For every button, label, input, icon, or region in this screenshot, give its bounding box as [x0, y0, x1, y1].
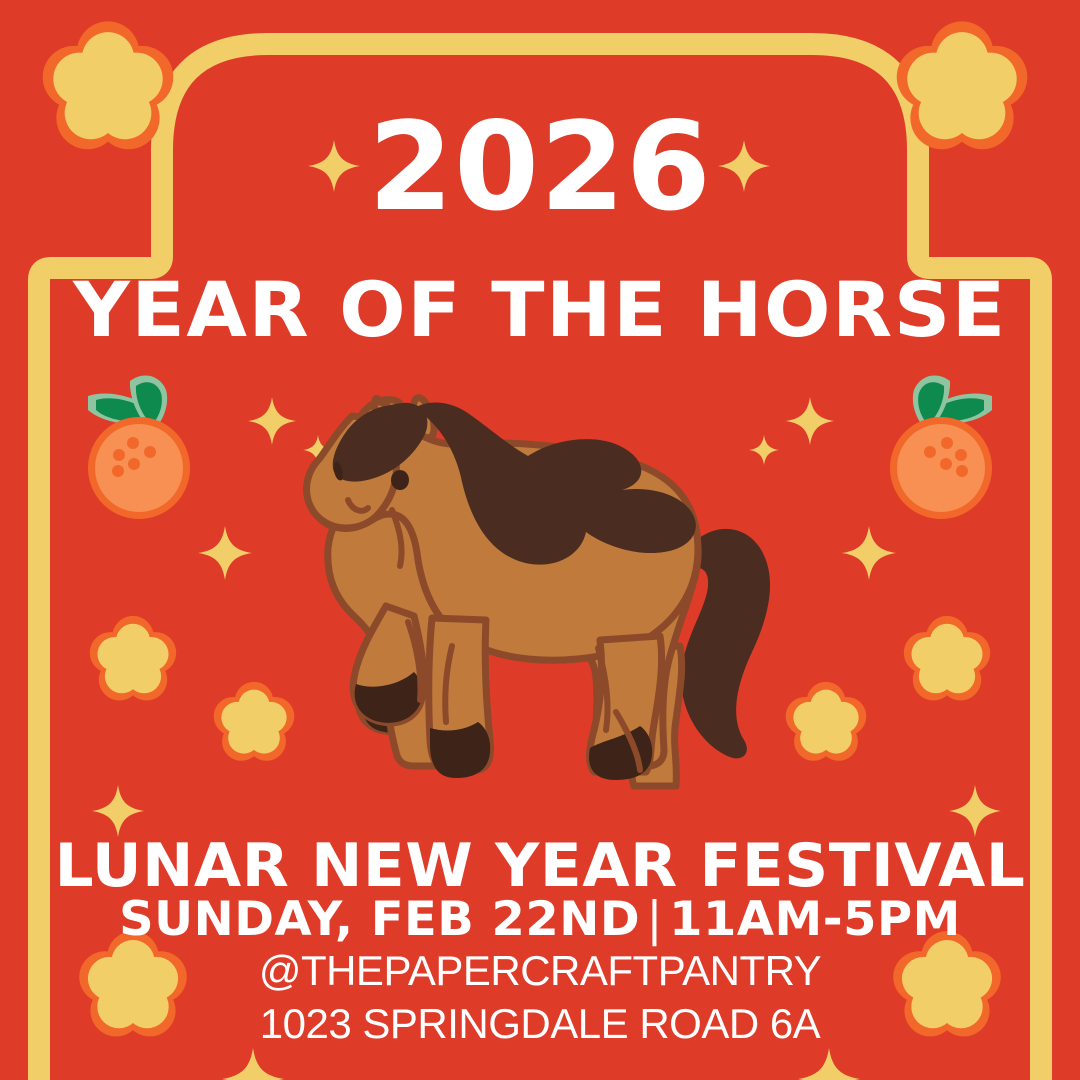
separator-pipe: |: [640, 896, 669, 943]
festival-name: LUNAR NEW YEAR FESTIVAL: [0, 836, 1080, 896]
social-handle[interactable]: @THEPAPERCRAFTPANTRY: [0, 950, 1080, 992]
event-datetime: SUNDAY, FEB 22ND|11AM-5PM: [0, 896, 1080, 943]
headline-year-of-the-horse: YEAR OF THE HORSE: [0, 272, 1080, 348]
venue-address: 1023 SPRINGDALE ROAD 6A: [0, 1003, 1080, 1045]
page-title-year: 2026: [0, 106, 1080, 228]
lunar-new-year-poster: 2026 YEAR OF THE HORSE LUNAR NEW YEAR FE…: [0, 0, 1080, 1080]
event-time: 11AM-5PM: [669, 892, 961, 947]
event-date: SUNDAY, FEB 22ND: [119, 892, 640, 947]
